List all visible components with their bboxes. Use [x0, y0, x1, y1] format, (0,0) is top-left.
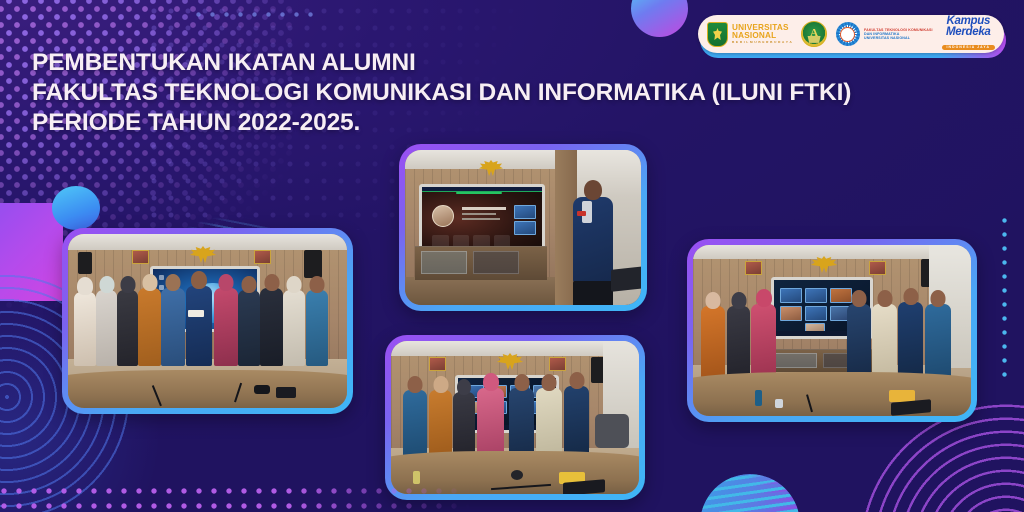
unas-tagline: B E R I L M U B E R B U D A Y A [732, 41, 792, 44]
photo-card-right [687, 239, 977, 422]
kampus-merdeka-badge: INDONESIA JAYA [942, 45, 995, 50]
gradient-rectangle-left [0, 203, 63, 301]
title-line-1: PEMBENTUKAN IKATAN ALUMNI [32, 48, 932, 78]
seal-round-icon [801, 21, 827, 47]
kampus-merdeka-line1: Kampus [942, 16, 995, 27]
title-line-3: PERIODE TAHUN 2022-2025. [32, 108, 932, 138]
photo-image-left [68, 234, 347, 408]
logo-kampus-merdeka: Kampus Merdeka INDONESIA JAYA [942, 16, 995, 52]
photo-image-right [693, 245, 971, 416]
page-title: PEMBENTUKAN IKATAN ALUMNI FAKULTAS TEKNO… [32, 48, 932, 138]
striped-sphere-bottom [700, 474, 800, 512]
gear-icon [836, 22, 860, 46]
unas-shield-icon [707, 22, 728, 47]
logo-ftki: FAKULTAS TEKNOLOGI KOMUNIKASI DAN INFORM… [836, 22, 933, 46]
kampus-merdeka-line2: Merdeka [942, 27, 995, 38]
logo-universitas-nasional: UNIVERSITAS NASIONAL B E R I L M U B E R… [707, 22, 792, 47]
photo-card-top [399, 144, 647, 311]
photo-card-bottom [385, 335, 645, 500]
photo-card-left [62, 228, 353, 414]
gradient-circle-top [631, 0, 688, 37]
photo-image-bottom [391, 341, 639, 494]
photo-image-top [405, 150, 641, 305]
dotted-line-top [196, 12, 316, 17]
ftki-line3: UNIVERSITAS NASIONAL [864, 36, 933, 40]
gradient-circle-left [52, 186, 100, 230]
striped-sphere-bottom-overlay [700, 474, 800, 512]
title-line-2: FAKULTAS TEKNOLOGI KOMUNIKASI DAN INFORM… [32, 78, 932, 108]
dotted-line-right [1002, 218, 1007, 380]
poster-canvas: UNIVERSITAS NASIONAL B E R I L M U B E R… [0, 0, 1024, 512]
